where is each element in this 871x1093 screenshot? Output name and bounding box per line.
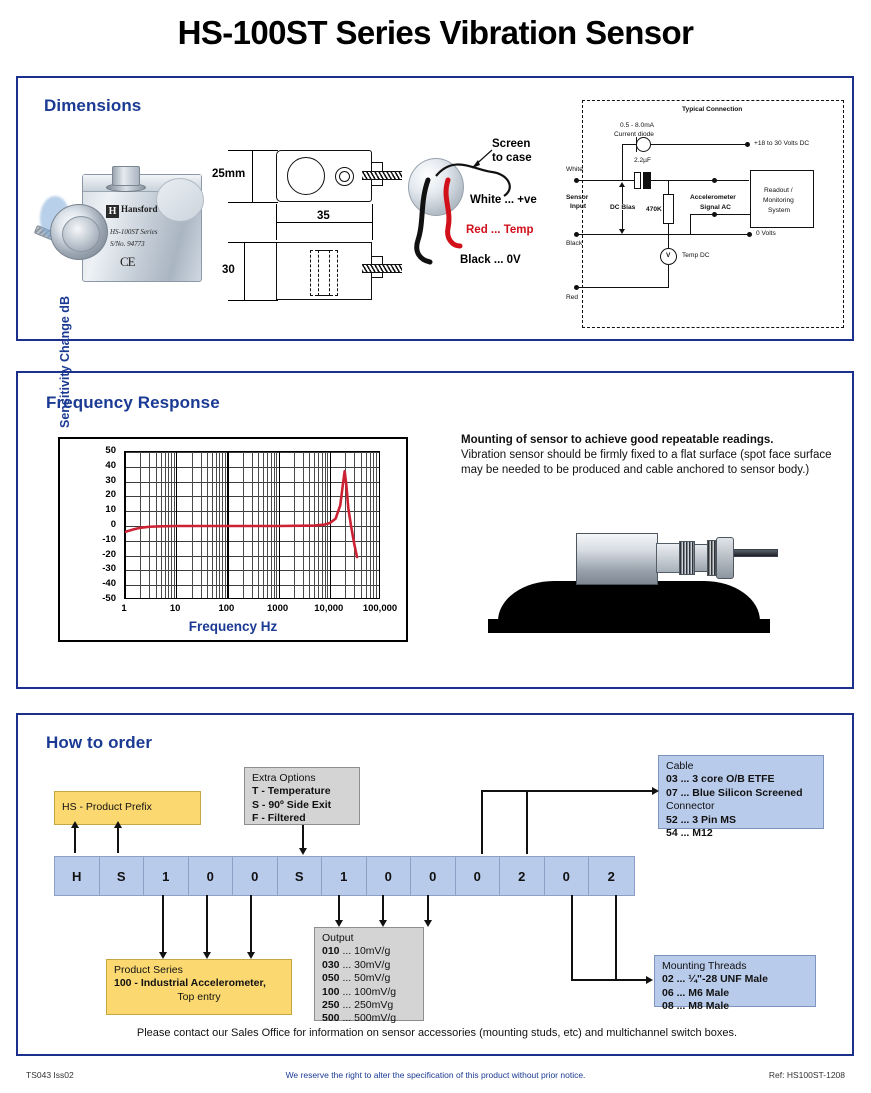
code-cell[interactable]: 0 (367, 857, 412, 895)
chart-y-tick: -30 (90, 564, 116, 574)
chart-y-tick: -10 (90, 535, 116, 545)
product-prefix-label: HS - Product Prefix (62, 801, 152, 814)
sensor-photo-top-stud (112, 166, 140, 186)
mounting-body: Vibration sensor should be firmly fixed … (461, 449, 832, 476)
output-value-4: ... 250mVg (342, 999, 393, 1011)
code-cell[interactable]: 0 (545, 857, 590, 895)
arrow-cable-h (481, 790, 653, 792)
code-cell[interactable]: 0 (189, 857, 234, 895)
temp-dc-label: Temp DC (682, 252, 709, 259)
ce-mark-icon: CE (120, 254, 135, 270)
chart-series-line (125, 471, 357, 557)
dim-ext-25-top (228, 150, 278, 151)
dc-bias-arrow-down (622, 210, 623, 230)
chart-x-tick: 10,000 (314, 603, 343, 614)
leader-threads-2 (615, 895, 617, 979)
product-series-box: Product Series 100 - Industrial Accelero… (106, 959, 292, 1015)
code-cell[interactable]: 1 (322, 857, 367, 895)
cable-line-1: 07 ... Blue Silicon Screened (666, 787, 803, 799)
cable-heading: Cable (666, 760, 816, 773)
chart-plot-area (124, 451, 380, 599)
supply-terminal-dot (745, 142, 750, 147)
mounting-heading: Mounting of sensor to achieve good repea… (461, 434, 773, 446)
terminal-red-label: Red (566, 294, 578, 301)
leader-cable-1 (481, 790, 483, 854)
mounted-connector-knurl-1 (679, 541, 695, 575)
chart-x-tick: 100 (218, 603, 234, 614)
dim-ext-30-top (228, 242, 278, 243)
mounting-threads-heading: Mounting Threads (662, 960, 808, 973)
zero-volt-label: 0 Volts (756, 230, 776, 237)
readout-return-junction (712, 212, 717, 217)
mounting-illustration (488, 519, 778, 639)
typical-connection-schematic: Typical Connection 0.5 - 8.0mA Current d… (564, 94, 848, 332)
mounting-threads-box: Mounting Threads 02 ... ¼"-28 UNF Male 0… (654, 955, 816, 1007)
chart-x-tick: 1 (121, 603, 126, 614)
arrow-threads-h (571, 979, 647, 981)
readout-line3: System (768, 207, 790, 214)
top-view-outline (276, 150, 372, 202)
frequency-response-title: Frequency Response (46, 393, 220, 413)
capacitor-plate-left (634, 172, 641, 189)
readout-line1: Readout / (764, 187, 793, 194)
dim-label-depth: 30 (222, 264, 235, 276)
arrow-output-3 (427, 895, 429, 921)
output-code-0: 010 (322, 945, 340, 957)
hansford-logo-text: Hansford (121, 204, 158, 214)
code-cell[interactable]: 2 (589, 857, 634, 895)
code-cell[interactable]: 0 (411, 857, 456, 895)
output-code-3: 100 (322, 986, 340, 998)
zero-volt-rail (576, 234, 750, 235)
sensor-input-line1: Sensor (566, 194, 588, 201)
output-value-2: ... 50mV/g (342, 972, 390, 984)
terminal-white-label: White (566, 166, 583, 173)
dim-ext-30-bottom (228, 300, 278, 301)
signal-label-line2: Signal AC (700, 204, 731, 211)
mounting-threads-line-1: 06 ... M6 Male (662, 987, 729, 999)
chart-y-tick: 40 (90, 461, 116, 471)
diode-label-line1: 0.5 - 8.0mA (620, 122, 654, 129)
dim-ext-35-right (372, 204, 373, 240)
code-cell[interactable]: H (55, 857, 100, 895)
white-signal-line (576, 180, 634, 181)
sensor-photo-face (156, 178, 204, 222)
code-cell[interactable]: 0 (233, 857, 278, 895)
schematic-title: Typical Connection (682, 106, 742, 113)
product-prefix-box: HS - Product Prefix (54, 791, 201, 825)
arrow-series-3 (250, 931, 252, 953)
leader-series-3 (250, 895, 252, 931)
footer-disclaimer: We reserve the right to alter the specif… (0, 1070, 871, 1080)
supply-rail (651, 144, 747, 145)
arrow-prefix-h (74, 827, 76, 853)
connector-subheading: Connector (666, 800, 816, 813)
resistor-label: 470K (646, 206, 662, 213)
label-screen: Screen (492, 138, 530, 150)
chart-x-tick: 10 (170, 603, 181, 614)
signal-label-line1: Accelerometer (690, 194, 736, 201)
dc-bias-arrow-up (622, 186, 623, 204)
output-heading: Output (322, 932, 416, 945)
dim-line-35 (276, 222, 372, 223)
capacitor-label: 2.2µF (634, 157, 651, 164)
how-to-order-panel: How to order HS - Product Prefix Extra O… (16, 713, 854, 1056)
sales-office-note: Please contact our Sales Office for info… (18, 1027, 856, 1039)
leader-threads-1 (571, 895, 573, 979)
sensor-photo-serial: S/No. 94773 (110, 240, 145, 248)
top-view-bore (287, 157, 325, 195)
frequency-response-panel: Frequency Response Sensitivity Change dB… (16, 371, 854, 689)
temp-meter-top-lead (668, 234, 669, 248)
temp-meter-bottom-lead (668, 265, 669, 287)
output-value-1: ... 30mV/g (342, 959, 390, 971)
footer-product-ref: Ref: HS100ST-1208 (769, 1070, 845, 1080)
output-code-4: 250 (322, 999, 340, 1011)
capacitor-plate-right (643, 172, 651, 189)
mounted-connector-base (656, 543, 680, 573)
extra-options-box: Extra Options T - Temperature S - 90º Si… (244, 767, 360, 825)
output-options-box: Output 010 ... 10mV/g 030 ... 30mV/g 050… (314, 927, 424, 1021)
chart-x-tick: 100,000 (363, 603, 397, 614)
label-black-wire: Black ... 0V (460, 254, 521, 266)
leader-series-2 (206, 895, 208, 931)
mounting-surface-base (488, 619, 770, 633)
resistor-top-lead (668, 180, 669, 194)
resistor-bottom-lead (668, 224, 669, 234)
chart-y-tick: 10 (90, 505, 116, 515)
top-view-hole-inner (339, 171, 350, 182)
chart-y-tick: 0 (90, 520, 116, 530)
page-footer: TS043 Iss02 We reserve the right to alte… (0, 1066, 871, 1088)
label-red-wire: Red ... Temp (466, 224, 534, 236)
mounted-cable-clamp (716, 537, 734, 579)
leader-cable-2 (526, 790, 528, 854)
readout-line2: Monitoring (763, 197, 794, 204)
output-code-1: 030 (322, 959, 340, 971)
wire-colour-diagram: Screen to case White ... +ve Red ... Tem… (396, 136, 576, 326)
dim-ext-35-left (276, 204, 277, 240)
mounted-connector-body (694, 544, 708, 572)
code-cell[interactable]: 1 (144, 857, 189, 895)
connector-line-1: 54 ... M12 (666, 827, 713, 839)
dim-line-30 (244, 242, 245, 300)
leader-series-1 (162, 895, 164, 931)
frequency-response-chart: Sensitivity Change dB 50403020100-10-20-… (58, 437, 408, 642)
product-series-line2: Top entry (114, 991, 284, 1004)
hansford-logo-mark: H (106, 205, 119, 218)
dim-label-height: 25mm (212, 168, 245, 180)
chart-y-tick: -50 (90, 594, 116, 604)
product-series-heading: Product Series (114, 964, 284, 977)
label-white-wire: White ... +ve (470, 194, 537, 206)
arrow-output-1 (338, 895, 340, 921)
chart-y-tick: -40 (90, 579, 116, 589)
chart-y-tick: 30 (90, 476, 116, 486)
chart-y-axis-label: Sensitivity Change dB (58, 273, 72, 451)
code-cell[interactable]: 0 (456, 857, 501, 895)
mounted-sensor-cable (732, 549, 778, 557)
output-code-2: 050 (322, 972, 340, 984)
sensor-photo-connector (50, 204, 108, 260)
cable-line-0: 03 ... 3 core O/B ETFE (666, 773, 775, 785)
side-view-hidden-detail-2 (318, 250, 330, 296)
ac-signal-line (651, 180, 749, 181)
diode-bar (636, 137, 637, 152)
dimensions-panel: Dimensions HHansford HS-100ST Series S/N… (16, 76, 854, 341)
mounting-threads-line-2: 08 ... M8 Male (662, 1000, 729, 1012)
arrow-series-2 (206, 931, 208, 953)
output-value-0: ... 10mV/g (342, 945, 390, 957)
connector-line-0: 52 ... 3 Pin MS (666, 814, 736, 826)
red-temp-line (576, 287, 669, 288)
output-value-5: ... 500mV/g (342, 1012, 396, 1024)
code-cell[interactable]: 2 (500, 857, 545, 895)
chart-y-tick: 20 (90, 490, 116, 500)
chart-y-tick: -20 (90, 550, 116, 560)
extra-options-line-1: S - 90º Side Exit (252, 799, 331, 811)
readout-return-line (690, 214, 750, 215)
diode-label-line2: Current diode (614, 131, 654, 138)
dim-label-width: 35 (314, 210, 333, 222)
chart-curve (125, 452, 380, 599)
arrow-series-1 (162, 931, 164, 953)
supply-label: +18 to 30 Volts DC (754, 140, 809, 147)
product-series-line1: 100 - Industrial Accelerometer, (114, 977, 266, 989)
dim-ext-25-bottom (228, 202, 278, 203)
chart-x-axis-label: Frequency Hz (60, 619, 406, 634)
diode-branch-line (622, 144, 623, 180)
hansford-logo: HHansford (106, 204, 158, 218)
mounted-sensor-body (576, 533, 658, 585)
extra-options-line-2: F - Filtered (252, 812, 306, 824)
sensor-photo-model: HS-100ST Series (110, 228, 158, 236)
output-code-5: 500 (322, 1012, 340, 1024)
cable-connector-box: Cable 03 ... 3 core O/B ETFE 07 ... Blue… (658, 755, 824, 829)
arrow-prefix-s (117, 827, 119, 853)
ac-signal-junction (712, 178, 717, 183)
dc-bias-label: DC Bias (610, 204, 635, 211)
resistor-470k (663, 194, 674, 224)
datasheet-page: HS-100ST Series Vibration Sensor Dimensi… (0, 0, 871, 1093)
sensor-input-line2: Input (570, 203, 586, 210)
extra-options-heading: Extra Options (252, 772, 352, 785)
order-code-row: H S 1 0 0 S 1 0 0 0 2 0 2 (54, 856, 635, 896)
label-screen-to-case: to case (492, 152, 532, 164)
voltmeter-letter: V (666, 252, 670, 259)
mounting-instructions: Mounting of sensor to achieve good repea… (461, 433, 835, 478)
mounted-connector-knurl-2 (707, 540, 716, 576)
current-diode-symbol (636, 137, 651, 152)
terminal-black-label: Black (566, 240, 582, 247)
dim-line-25 (252, 150, 253, 202)
output-value-3: ... 100mV/g (342, 986, 396, 998)
mounting-threads-line-0: 02 ... ¼"-28 UNF Male (662, 973, 768, 985)
arrow-extra-options (302, 825, 304, 849)
code-cell[interactable]: S (100, 857, 145, 895)
page-title: HS-100ST Series Vibration Sensor (0, 14, 871, 52)
dimension-drawings: 25mm 35 30 (214, 138, 404, 323)
readout-return-drop (690, 214, 691, 234)
extra-options-line-0: T - Temperature (252, 785, 331, 797)
chart-x-tick: 1000 (267, 603, 288, 614)
chart-y-tick: 50 (90, 446, 116, 456)
dimensions-title: Dimensions (44, 96, 141, 116)
order-code-diagram: HS - Product Prefix Extra Options T - Te… (18, 715, 856, 1058)
code-cell[interactable]: S (278, 857, 323, 895)
arrow-output-2 (382, 895, 384, 921)
zero-volt-terminal-dot (747, 232, 752, 237)
